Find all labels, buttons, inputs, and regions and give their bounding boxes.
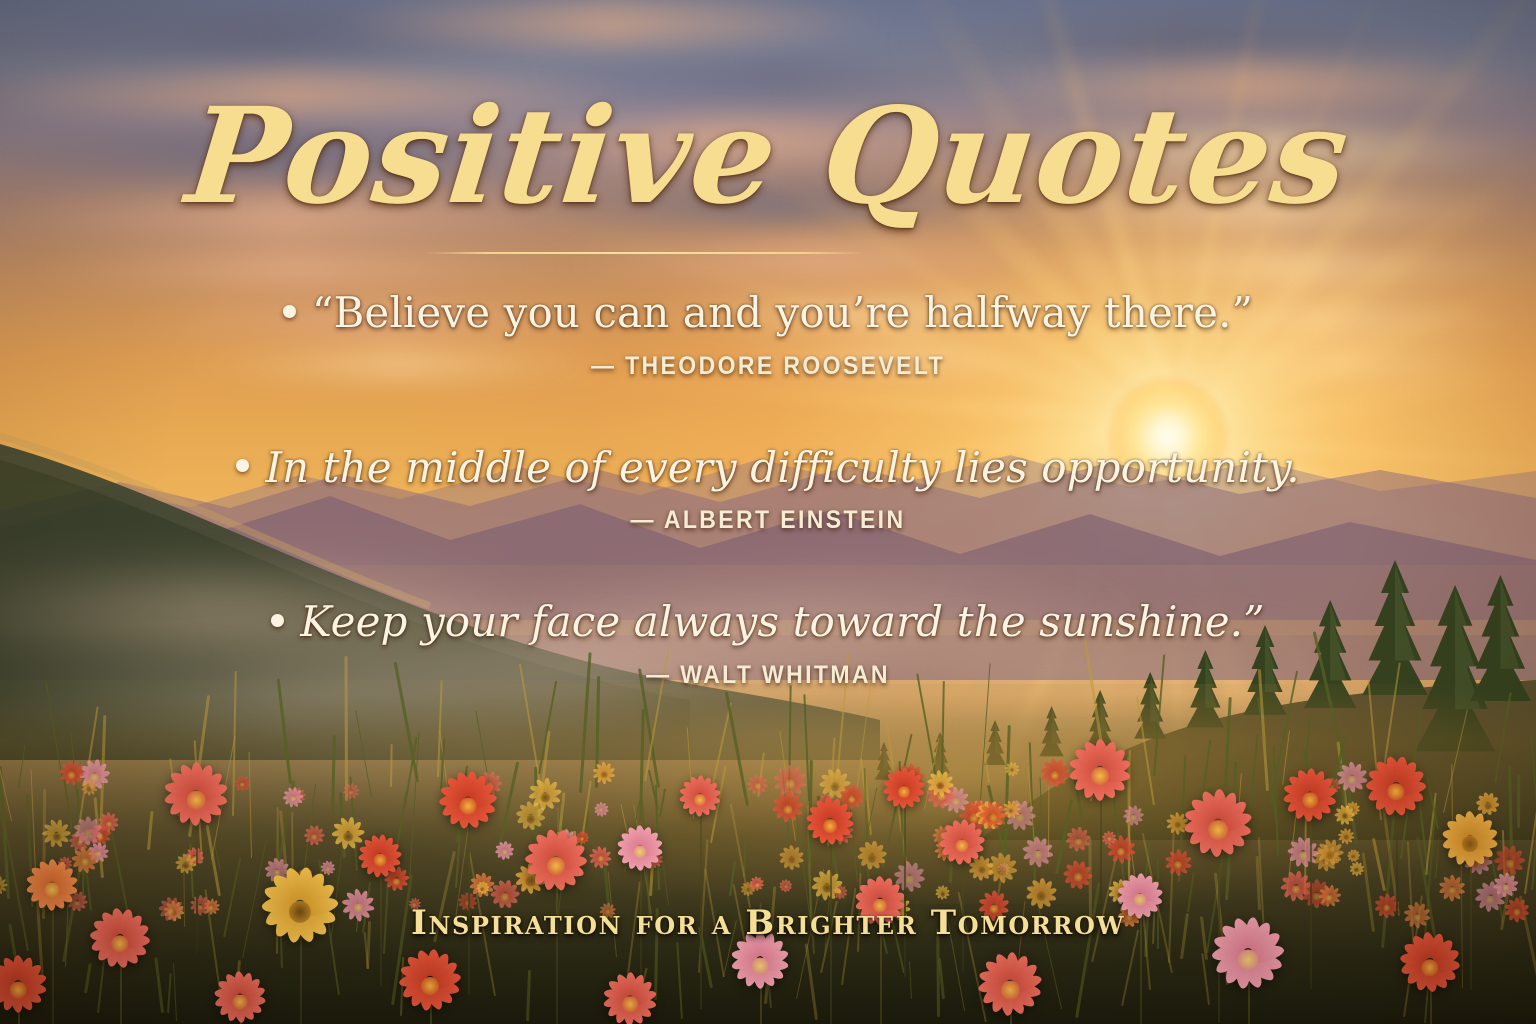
quote-block: Keep your face always toward the sunshin… [0,597,1536,690]
quote-block: “Believe you can and you’re halfway ther… [0,288,1536,381]
quote-text-label: Keep your face always toward the sunshin… [300,597,1264,646]
quote-block: In the middle of every difficulty lies o… [0,443,1536,536]
quote-text: In the middle of every difficulty lies o… [0,443,1536,493]
quote-text: Keep your face always toward the sunshin… [0,597,1536,647]
bullet-dot-icon [283,305,296,318]
title-divider [425,252,865,254]
poster-content: Positive Quotes “Believe you can and you… [0,0,1536,1024]
footer-tagline: Inspiration for a Brighter Tomorrow [0,903,1536,943]
page-title: Positive Quotes [0,88,1536,227]
quote-poster: Positive Quotes “Believe you can and you… [0,0,1536,1024]
quote-list: “Believe you can and you’re halfway ther… [0,288,1536,690]
quote-attribution: — Theodore Roosevelt [61,352,1474,381]
bullet-dot-icon [236,459,249,472]
quote-attribution: — Walt Whitman [61,661,1474,690]
quote-text-label: “Believe you can and you’re halfway ther… [312,288,1253,337]
bullet-dot-icon [271,614,284,627]
quote-text-label: In the middle of every difficulty lies o… [265,443,1299,492]
quote-text: “Believe you can and you’re halfway ther… [0,288,1536,338]
quote-attribution: — Albert Einstein [61,506,1474,535]
